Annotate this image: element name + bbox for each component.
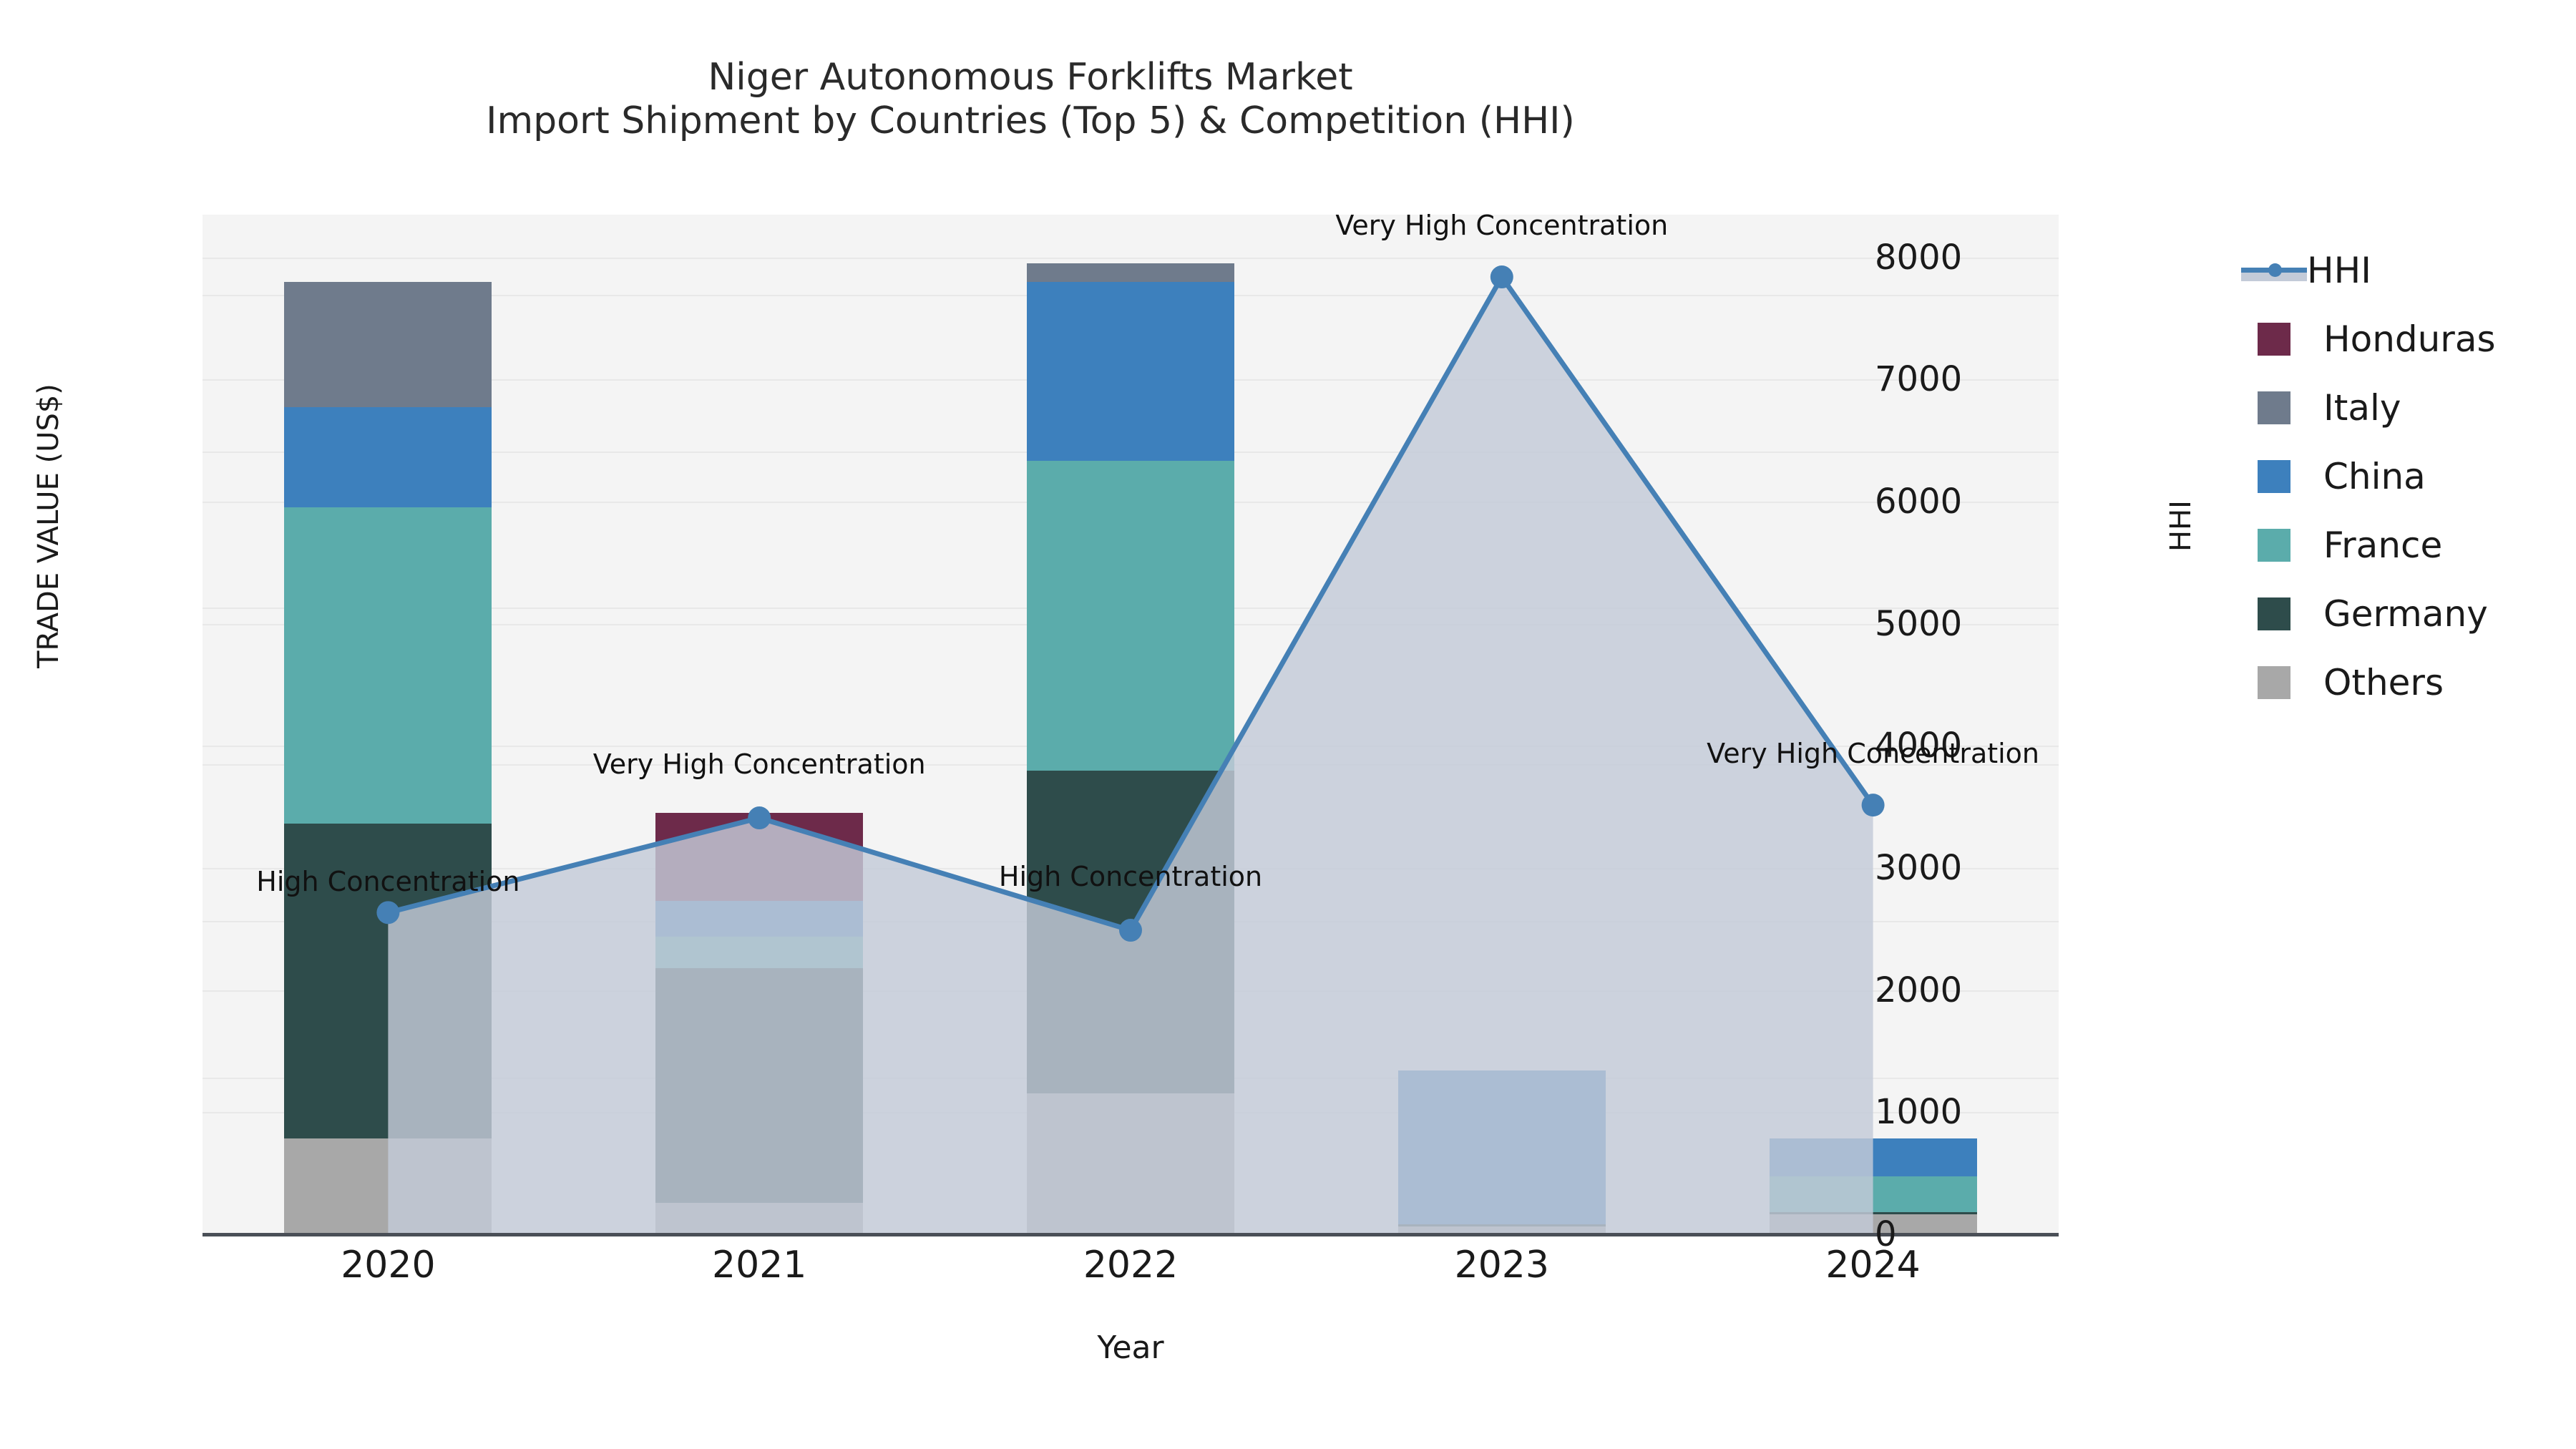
bar-segment[interactable] bbox=[1027, 282, 1234, 461]
bar-segment[interactable] bbox=[655, 1203, 863, 1234]
y-axis-label-right: HHI bbox=[2165, 419, 2197, 633]
legend-line-icon bbox=[2241, 254, 2307, 287]
chart-root: Niger Autonomous Forklifts Market Import… bbox=[0, 0, 2576, 1449]
legend-color-swatch bbox=[2258, 323, 2290, 356]
bar-segment[interactable] bbox=[284, 282, 492, 407]
y-tick-label-right: 1000 bbox=[1875, 1092, 2089, 1132]
legend-item-label: HHI bbox=[2307, 250, 2371, 291]
legend: HHIHondurasItalyChinaFranceGermanyOthers bbox=[2258, 236, 2572, 717]
x-tick-label: 2020 bbox=[245, 1244, 531, 1287]
legend-item-label: China bbox=[2323, 456, 2426, 497]
legend-item[interactable]: France bbox=[2258, 511, 2572, 580]
y-tick-label-right: 3000 bbox=[1875, 848, 2089, 888]
legend-item-label: Honduras bbox=[2323, 318, 2496, 360]
legend-item[interactable]: Others bbox=[2258, 648, 2572, 717]
bar-segment[interactable] bbox=[1398, 1224, 1606, 1227]
x-axis-label: Year bbox=[203, 1330, 2059, 1366]
legend-color-swatch bbox=[2258, 666, 2290, 699]
bar-segment[interactable] bbox=[284, 507, 492, 824]
legend-item-label: France bbox=[2323, 525, 2442, 566]
legend-item-label: Germany bbox=[2323, 593, 2488, 635]
x-tick-label: 2024 bbox=[1730, 1244, 2016, 1287]
bar-segment[interactable] bbox=[655, 968, 863, 1203]
y-tick-label-right: 2000 bbox=[1875, 970, 2089, 1010]
concentration-annotation: Very High Concentration bbox=[1335, 210, 1668, 241]
bar-segment[interactable] bbox=[655, 901, 863, 937]
concentration-annotation: High Concentration bbox=[999, 861, 1262, 892]
legend-item-label: Others bbox=[2323, 662, 2444, 703]
y-axis-label-left: TRADE VALUE (US$) bbox=[32, 290, 65, 762]
legend-color-swatch bbox=[2258, 597, 2290, 630]
concentration-annotation: Very High Concentration bbox=[1707, 738, 2039, 769]
legend-item[interactable]: Honduras bbox=[2258, 305, 2572, 374]
bar-segment[interactable] bbox=[655, 813, 863, 901]
legend-item[interactable]: HHI bbox=[2258, 236, 2572, 305]
legend-color-swatch bbox=[2258, 529, 2290, 562]
bar-segment[interactable] bbox=[1770, 1176, 1977, 1212]
legend-line-dot bbox=[2268, 263, 2282, 277]
legend-item-label: Italy bbox=[2323, 387, 2401, 429]
y-tick-label-right: 8000 bbox=[1875, 238, 2089, 278]
y-tick-label-right: 6000 bbox=[1875, 482, 2089, 522]
bar-segment[interactable] bbox=[1770, 1138, 1977, 1176]
bar-segment[interactable] bbox=[1027, 771, 1234, 1093]
bar-segment[interactable] bbox=[655, 937, 863, 968]
legend-item[interactable]: China bbox=[2258, 442, 2572, 511]
legend-color-swatch bbox=[2258, 391, 2290, 424]
concentration-annotation: High Concentration bbox=[256, 866, 519, 897]
concentration-annotation: Very High Concentration bbox=[593, 748, 926, 780]
x-tick-label: 2021 bbox=[616, 1244, 902, 1287]
grid-line-secondary bbox=[203, 258, 2059, 259]
chart-title: Niger Autonomous Forklifts Market Import… bbox=[0, 56, 2061, 144]
chart-subtitle: Import Shipment by Countries (Top 5) & C… bbox=[0, 99, 2061, 143]
x-tick-label: 2023 bbox=[1359, 1244, 1645, 1287]
bar-segment[interactable] bbox=[284, 407, 492, 507]
bar-segment[interactable] bbox=[1398, 1070, 1606, 1224]
y-tick-label-right: 7000 bbox=[1875, 359, 2089, 399]
bar-segment[interactable] bbox=[1027, 1093, 1234, 1234]
x-axis-line bbox=[203, 1233, 2059, 1236]
legend-item[interactable]: Germany bbox=[2258, 580, 2572, 648]
legend-item[interactable]: Italy bbox=[2258, 374, 2572, 442]
bar-segment[interactable] bbox=[1027, 263, 1234, 282]
legend-color-swatch bbox=[2258, 460, 2290, 493]
bar-segment[interactable] bbox=[284, 1138, 492, 1234]
x-tick-label: 2022 bbox=[987, 1244, 1274, 1287]
bar-segment[interactable] bbox=[1027, 461, 1234, 771]
y-tick-label-right: 5000 bbox=[1875, 604, 2089, 644]
chart-title-main: Niger Autonomous Forklifts Market bbox=[0, 56, 2061, 99]
plot-area bbox=[203, 215, 2059, 1234]
